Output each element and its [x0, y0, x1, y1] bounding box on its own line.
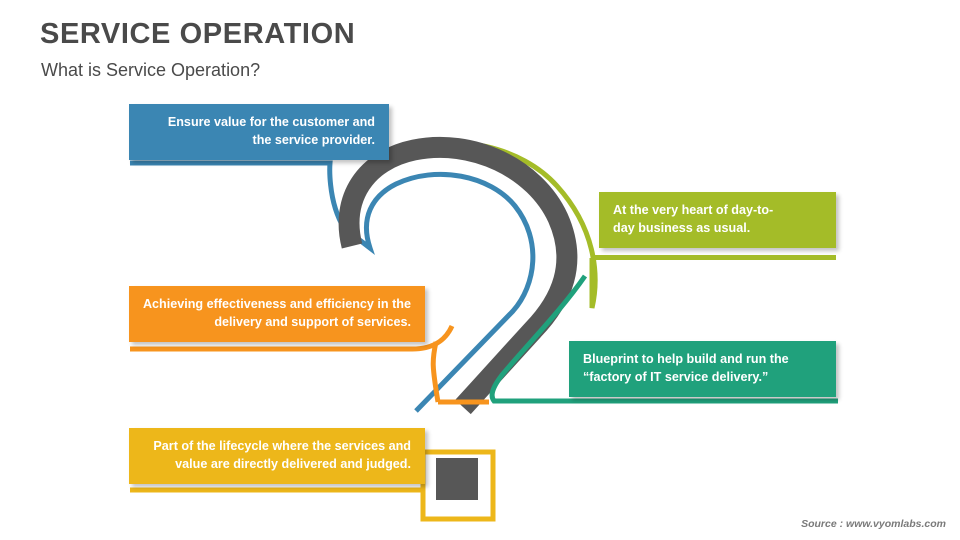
callout-line-1: Blueprint to help build and run the [583, 351, 824, 369]
callout-line-2: day business as usual. [613, 220, 824, 238]
callout-line-1: At the very heart of day-to- [613, 202, 824, 220]
callout-line-2: “factory of IT service delivery.” [583, 369, 824, 387]
callout-lifecycle[interactable]: Part of the lifecycle where the services… [129, 428, 425, 484]
callout-line-2: the service provider. [141, 132, 375, 150]
callout-effectiveness-efficiency[interactable]: Achieving effectiveness and efficiency i… [129, 286, 425, 342]
callout-line-2: value are directly delivered and judged. [141, 456, 411, 474]
callout-heart-of-business[interactable]: At the very heart of day-to- day busines… [599, 192, 836, 248]
callout-ensure-value[interactable]: Ensure value for the customer and the se… [129, 104, 389, 160]
question-mark-dot [436, 458, 478, 500]
callout-underbar-olive [592, 255, 836, 260]
callout-line-1: Achieving effectiveness and efficiency i… [141, 296, 411, 314]
callout-line-2: delivery and support of services. [141, 314, 411, 332]
callout-line-1: Ensure value for the customer and [141, 114, 375, 132]
source-credit: Source : www.vyomlabs.com [801, 518, 946, 530]
callout-line-1: Part of the lifecycle where the services… [141, 438, 411, 456]
slide-canvas: SERVICE OPERATION What is Service Operat… [0, 0, 960, 540]
callout-blueprint[interactable]: Blueprint to help build and run the “fac… [569, 341, 836, 397]
